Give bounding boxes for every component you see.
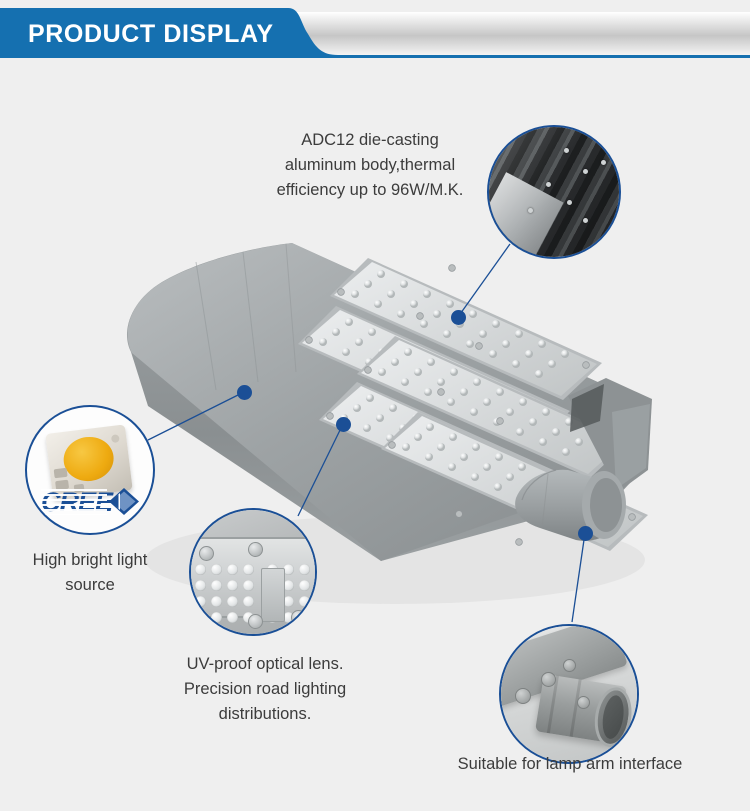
connector-dot-lamp-arm <box>578 526 593 541</box>
page-title: PRODUCT DISPLAY <box>28 8 274 60</box>
optical-lens-photo <box>191 510 315 634</box>
cree-diamond-icon <box>109 488 139 515</box>
connector-dot-light-source <box>237 385 252 400</box>
optical-lens-callout <box>189 508 317 636</box>
light-source-callout: CREE <box>25 405 155 535</box>
heatsink-photo <box>489 127 619 257</box>
connector-dot-heatsink <box>451 310 466 325</box>
heatsink-caption: ADC12 die-casting aluminum body,thermal … <box>240 128 500 203</box>
optical-lens-caption: UV-proof optical lens. Precision road li… <box>145 652 385 727</box>
lamp-arm-callout <box>499 624 639 764</box>
fin-sheen <box>489 127 619 257</box>
lamp-arm-photo <box>501 626 637 762</box>
cree-led-photo: CREE <box>27 407 153 533</box>
lamp-arm-caption: Suitable for lamp arm interface <box>420 752 720 777</box>
light-source-caption: High bright light source <box>10 548 170 598</box>
product-display-page: PRODUCT DISPLAY <box>0 0 750 811</box>
cree-wordmark: CREE <box>41 487 112 518</box>
heatsink-callout <box>487 125 621 259</box>
connector-dot-optical-lens <box>336 417 351 432</box>
cree-logo: CREE <box>41 487 137 517</box>
lens-connector <box>261 568 285 622</box>
